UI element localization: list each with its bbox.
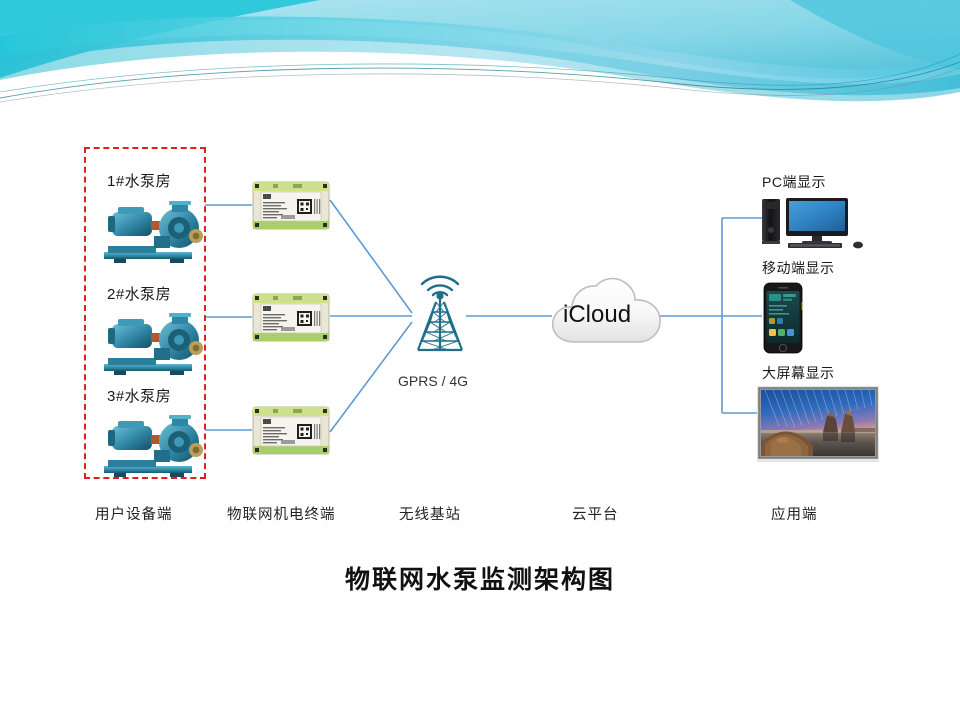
iot-terminal-module-icon xyxy=(251,404,331,462)
water-pump-icon xyxy=(96,410,206,485)
app-label-bigscreen: 大屏幕显示 xyxy=(762,363,835,383)
presentation-slide: 1#水泵房 xyxy=(0,0,960,720)
iot-terminal-module-icon xyxy=(251,179,331,237)
desktop-computer-icon xyxy=(760,196,868,255)
cell-tower-icon xyxy=(400,262,480,372)
tier-label-iot-terminal: 物联网机电终端 xyxy=(227,503,336,524)
pump-label-2: 2#水泵房 xyxy=(107,283,171,304)
tier-label-cloud-platform: 云平台 xyxy=(572,503,619,524)
tower-label: GPRS / 4G xyxy=(398,373,468,389)
smartphone-icon xyxy=(763,282,803,359)
app-label-pc: PC端显示 xyxy=(762,172,826,192)
cloud-label: iCloud xyxy=(563,301,631,329)
tier-label-user-equipment: 用户设备端 xyxy=(95,503,173,524)
water-pump-icon xyxy=(96,308,206,383)
large-display-screen-icon xyxy=(757,386,879,467)
tier-label-base-station: 无线基站 xyxy=(399,503,461,524)
iot-terminal-module-icon xyxy=(251,291,331,349)
water-pump-icon xyxy=(96,196,206,271)
pump-label-1: 1#水泵房 xyxy=(107,170,171,191)
pump-label-3: 3#水泵房 xyxy=(107,385,171,406)
app-label-mobile: 移动端显示 xyxy=(762,258,835,278)
tier-label-application: 应用端 xyxy=(771,503,818,524)
page-title: 物联网水泵监测架构图 xyxy=(0,560,960,596)
